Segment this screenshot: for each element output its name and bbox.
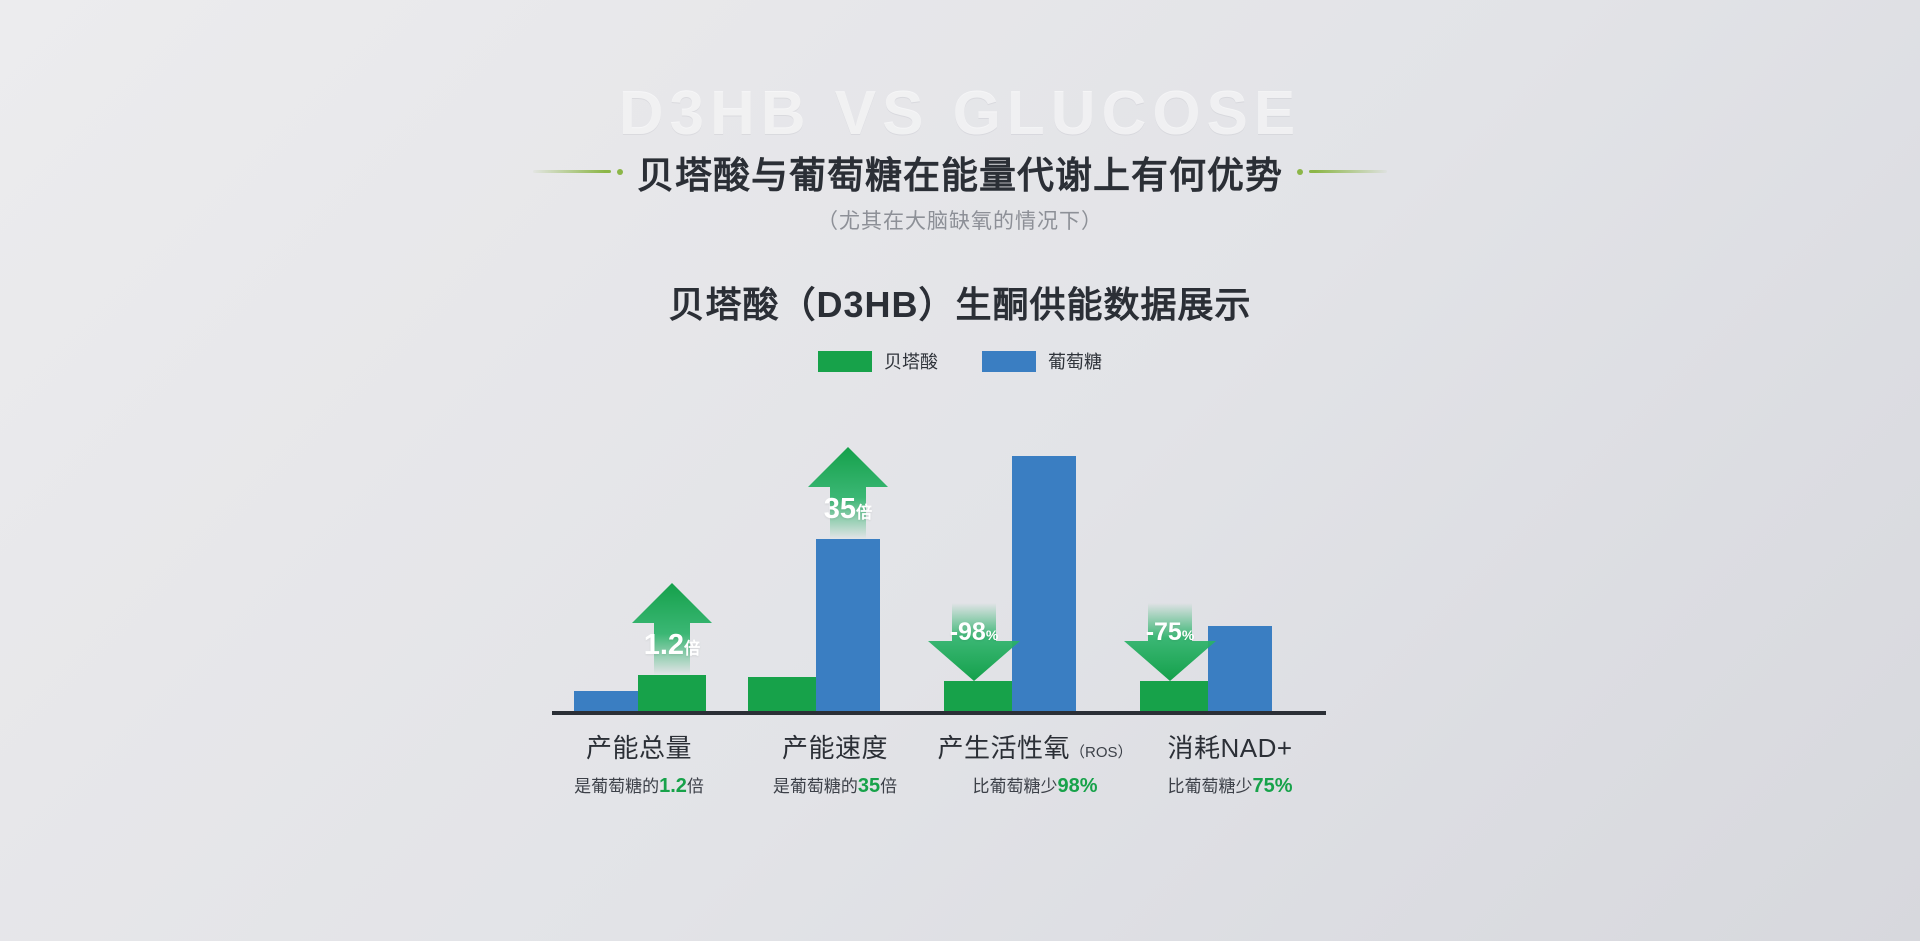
x-axis-line [552, 711, 1326, 715]
green-swatch-icon [818, 351, 872, 372]
bar-d3hb-1[interactable] [638, 675, 706, 711]
bar-glucose-2[interactable] [816, 539, 880, 711]
bar-d3hb-2[interactable] [748, 677, 816, 711]
bar-group-3: -98% [944, 420, 1118, 711]
category-label-4: 消耗NAD+ 比葡萄糖少75% [1130, 728, 1330, 798]
arrow-label-2: 35倍 [824, 495, 873, 524]
page-subtitle: （尤其在大脑缺氧的情况下） [0, 205, 1920, 235]
category-label-3: 产生活性氧（ROS） 比葡萄糖少98% [926, 728, 1144, 798]
chart-title: 贝塔酸（D3HB）生酮供能数据展示 [0, 276, 1920, 328]
arrow-label-4: -75% [1146, 620, 1195, 645]
arrow-down-4: -75% [1124, 603, 1216, 681]
category-subtitle-2: 是葡萄糖的35倍 [735, 772, 935, 798]
category-name-4: 消耗NAD+ [1130, 728, 1330, 765]
arrow-up-1: 1.2倍 [632, 583, 712, 675]
bar-glucose-4[interactable] [1208, 626, 1272, 711]
category-subtitle-3: 比葡萄糖少98% [926, 772, 1144, 798]
decoration-dot-left [617, 169, 623, 175]
decoration-dot-right [1297, 169, 1303, 175]
slide-canvas: D3HB VS GLUCOSE 贝塔酸与葡萄糖在能量代谢上有何优势 （尤其在大脑… [0, 0, 1920, 941]
category-label-2: 产能速度 是葡萄糖的35倍 [735, 728, 935, 798]
decoration-line-left [533, 170, 611, 173]
blue-swatch-icon [982, 351, 1036, 372]
headline-decoration-right-icon [1297, 169, 1387, 175]
bar-d3hb-3[interactable] [944, 681, 1012, 711]
decoration-line-right [1309, 170, 1387, 173]
category-subtitle-1: 是葡萄糖的1.2倍 [539, 772, 739, 798]
category-axis-labels: 产能总量 是葡萄糖的1.2倍 产能速度 是葡萄糖的35倍 产生活性氧（ROS） … [552, 728, 1326, 818]
legend-item-d3hb[interactable]: 贝塔酸 [818, 348, 938, 374]
page-title: 贝塔酸与葡萄糖在能量代谢上有何优势 [637, 145, 1283, 199]
bar-group-2: 35倍 [748, 420, 922, 711]
arrow-label-1: 1.2倍 [644, 631, 701, 660]
category-name-3: 产生活性氧（ROS） [926, 728, 1144, 765]
category-name-1: 产能总量 [539, 728, 739, 765]
bar-group-4: -75% [1140, 420, 1314, 711]
chart-legend: 贝塔酸 葡萄糖 [0, 348, 1920, 374]
arrow-label-3: -98% [950, 620, 999, 645]
category-subtitle-4: 比葡萄糖少75% [1130, 772, 1330, 798]
arrow-up-2: 35倍 [808, 447, 888, 539]
legend-label-glucose: 葡萄糖 [1048, 348, 1102, 374]
bar-chart-plot: 1.2倍 35倍 [552, 420, 1326, 715]
legend-item-glucose[interactable]: 葡萄糖 [982, 348, 1102, 374]
legend-label-d3hb: 贝塔酸 [884, 348, 938, 374]
bar-glucose-3[interactable] [1012, 456, 1076, 711]
bar-glucose-1[interactable] [574, 691, 638, 711]
category-name-2: 产能速度 [735, 728, 935, 765]
arrow-down-3: -98% [928, 603, 1020, 681]
category-label-1: 产能总量 是葡萄糖的1.2倍 [539, 728, 739, 798]
bar-group-1: 1.2倍 [552, 420, 726, 711]
headline-decoration-left-icon [533, 169, 623, 175]
bar-d3hb-4[interactable] [1140, 681, 1208, 711]
